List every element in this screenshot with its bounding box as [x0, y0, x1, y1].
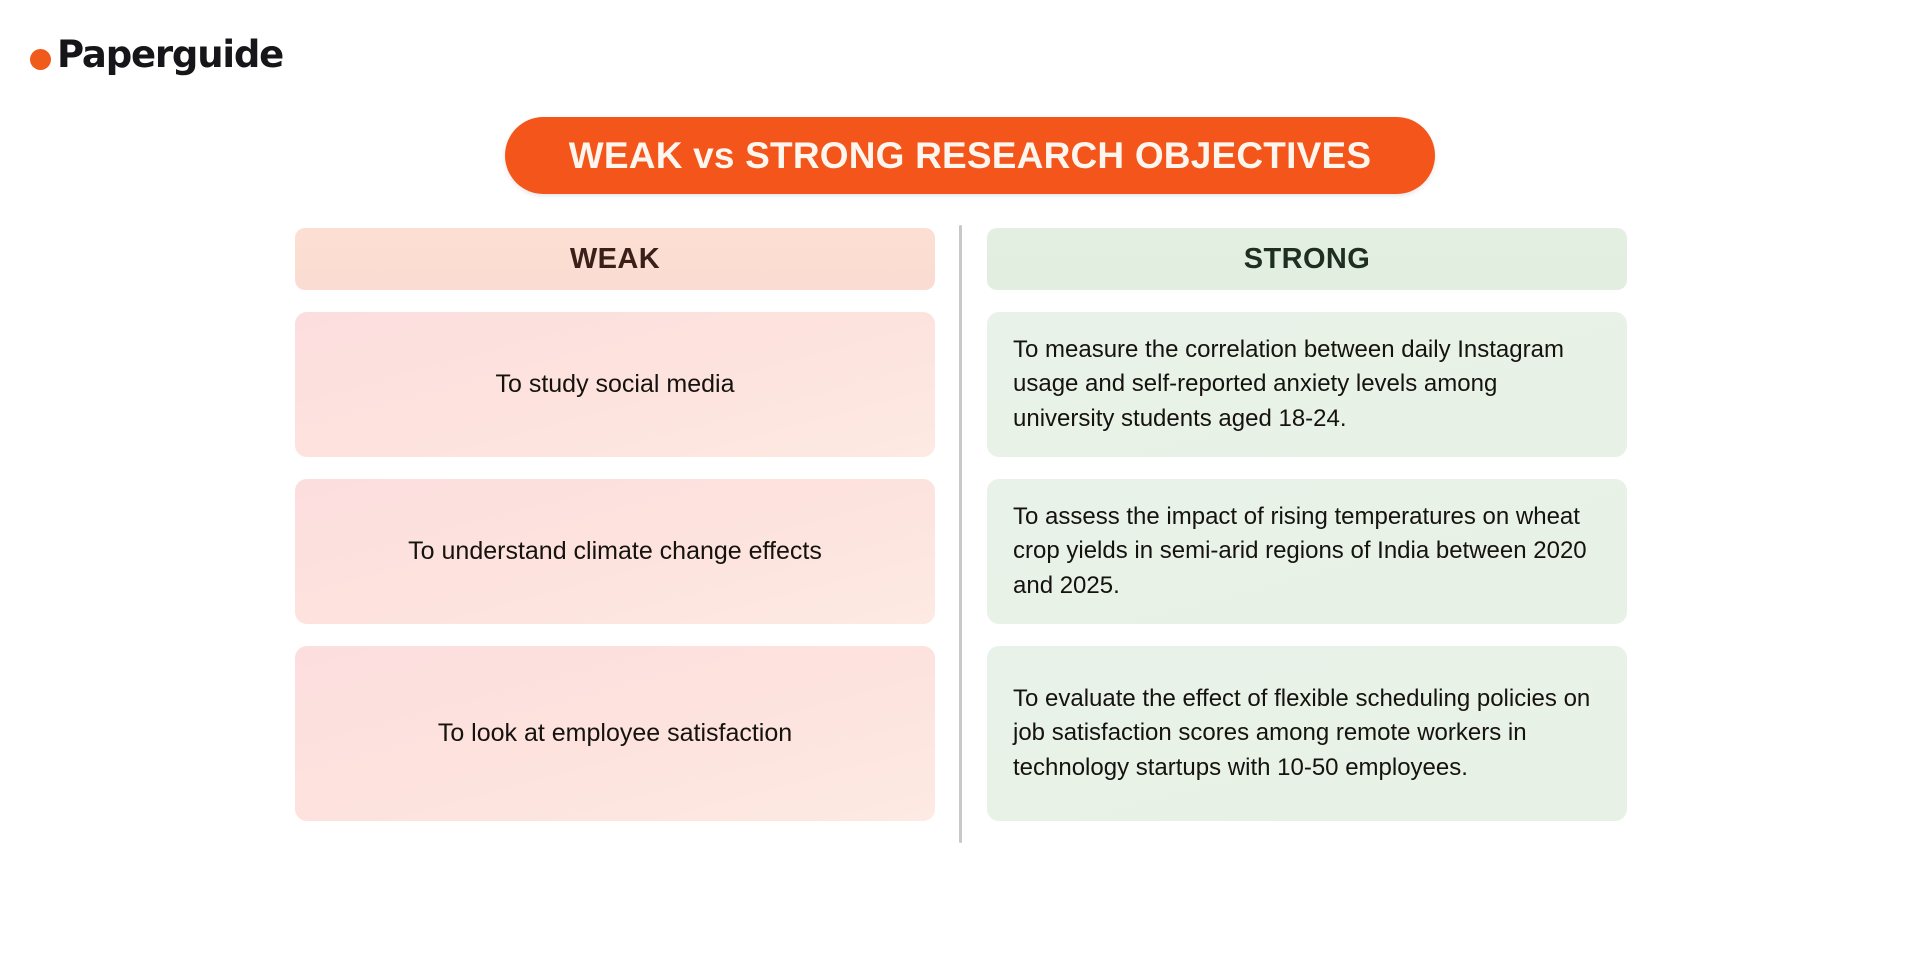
strong-column-header: STRONG [987, 228, 1627, 290]
page-title: WEAK vs STRONG RESEARCH OBJECTIVES [569, 135, 1371, 177]
page-title-banner: WEAK vs STRONG RESEARCH OBJECTIVES [505, 117, 1435, 194]
brand-dot-icon [30, 49, 51, 70]
brand-logo: Paperguide [30, 36, 283, 73]
strong-item-card: To evaluate the effect of flexible sched… [987, 646, 1627, 821]
weak-item-card: To look at employee satisfaction [295, 646, 935, 821]
weak-item-card: To understand climate change effects [295, 479, 935, 624]
brand-name: Paperguide [57, 36, 283, 73]
weak-header-label: WEAK [570, 243, 660, 276]
strong-item-card: To assess the impact of rising temperatu… [987, 479, 1627, 624]
weak-column-header: WEAK [295, 228, 935, 290]
weak-item-card: To study social media [295, 312, 935, 457]
strong-item-text: To measure the correlation between daily… [1013, 333, 1601, 435]
weak-item-text: To study social media [495, 367, 734, 403]
weak-item-text: To look at employee satisfaction [438, 716, 792, 752]
weak-item-text: To understand climate change effects [408, 534, 822, 570]
column-spacer [935, 228, 987, 821]
strong-item-text: To assess the impact of rising temperatu… [1013, 500, 1601, 602]
strong-item-text: To evaluate the effect of flexible sched… [1013, 682, 1601, 784]
weak-column: WEAK To study social media To understand… [295, 228, 935, 821]
comparison-grid: WEAK To study social media To understand… [295, 228, 1627, 821]
strong-item-card: To measure the correlation between daily… [987, 312, 1627, 457]
strong-column: STRONG To measure the correlation betwee… [987, 228, 1627, 821]
strong-header-label: STRONG [1244, 243, 1370, 276]
